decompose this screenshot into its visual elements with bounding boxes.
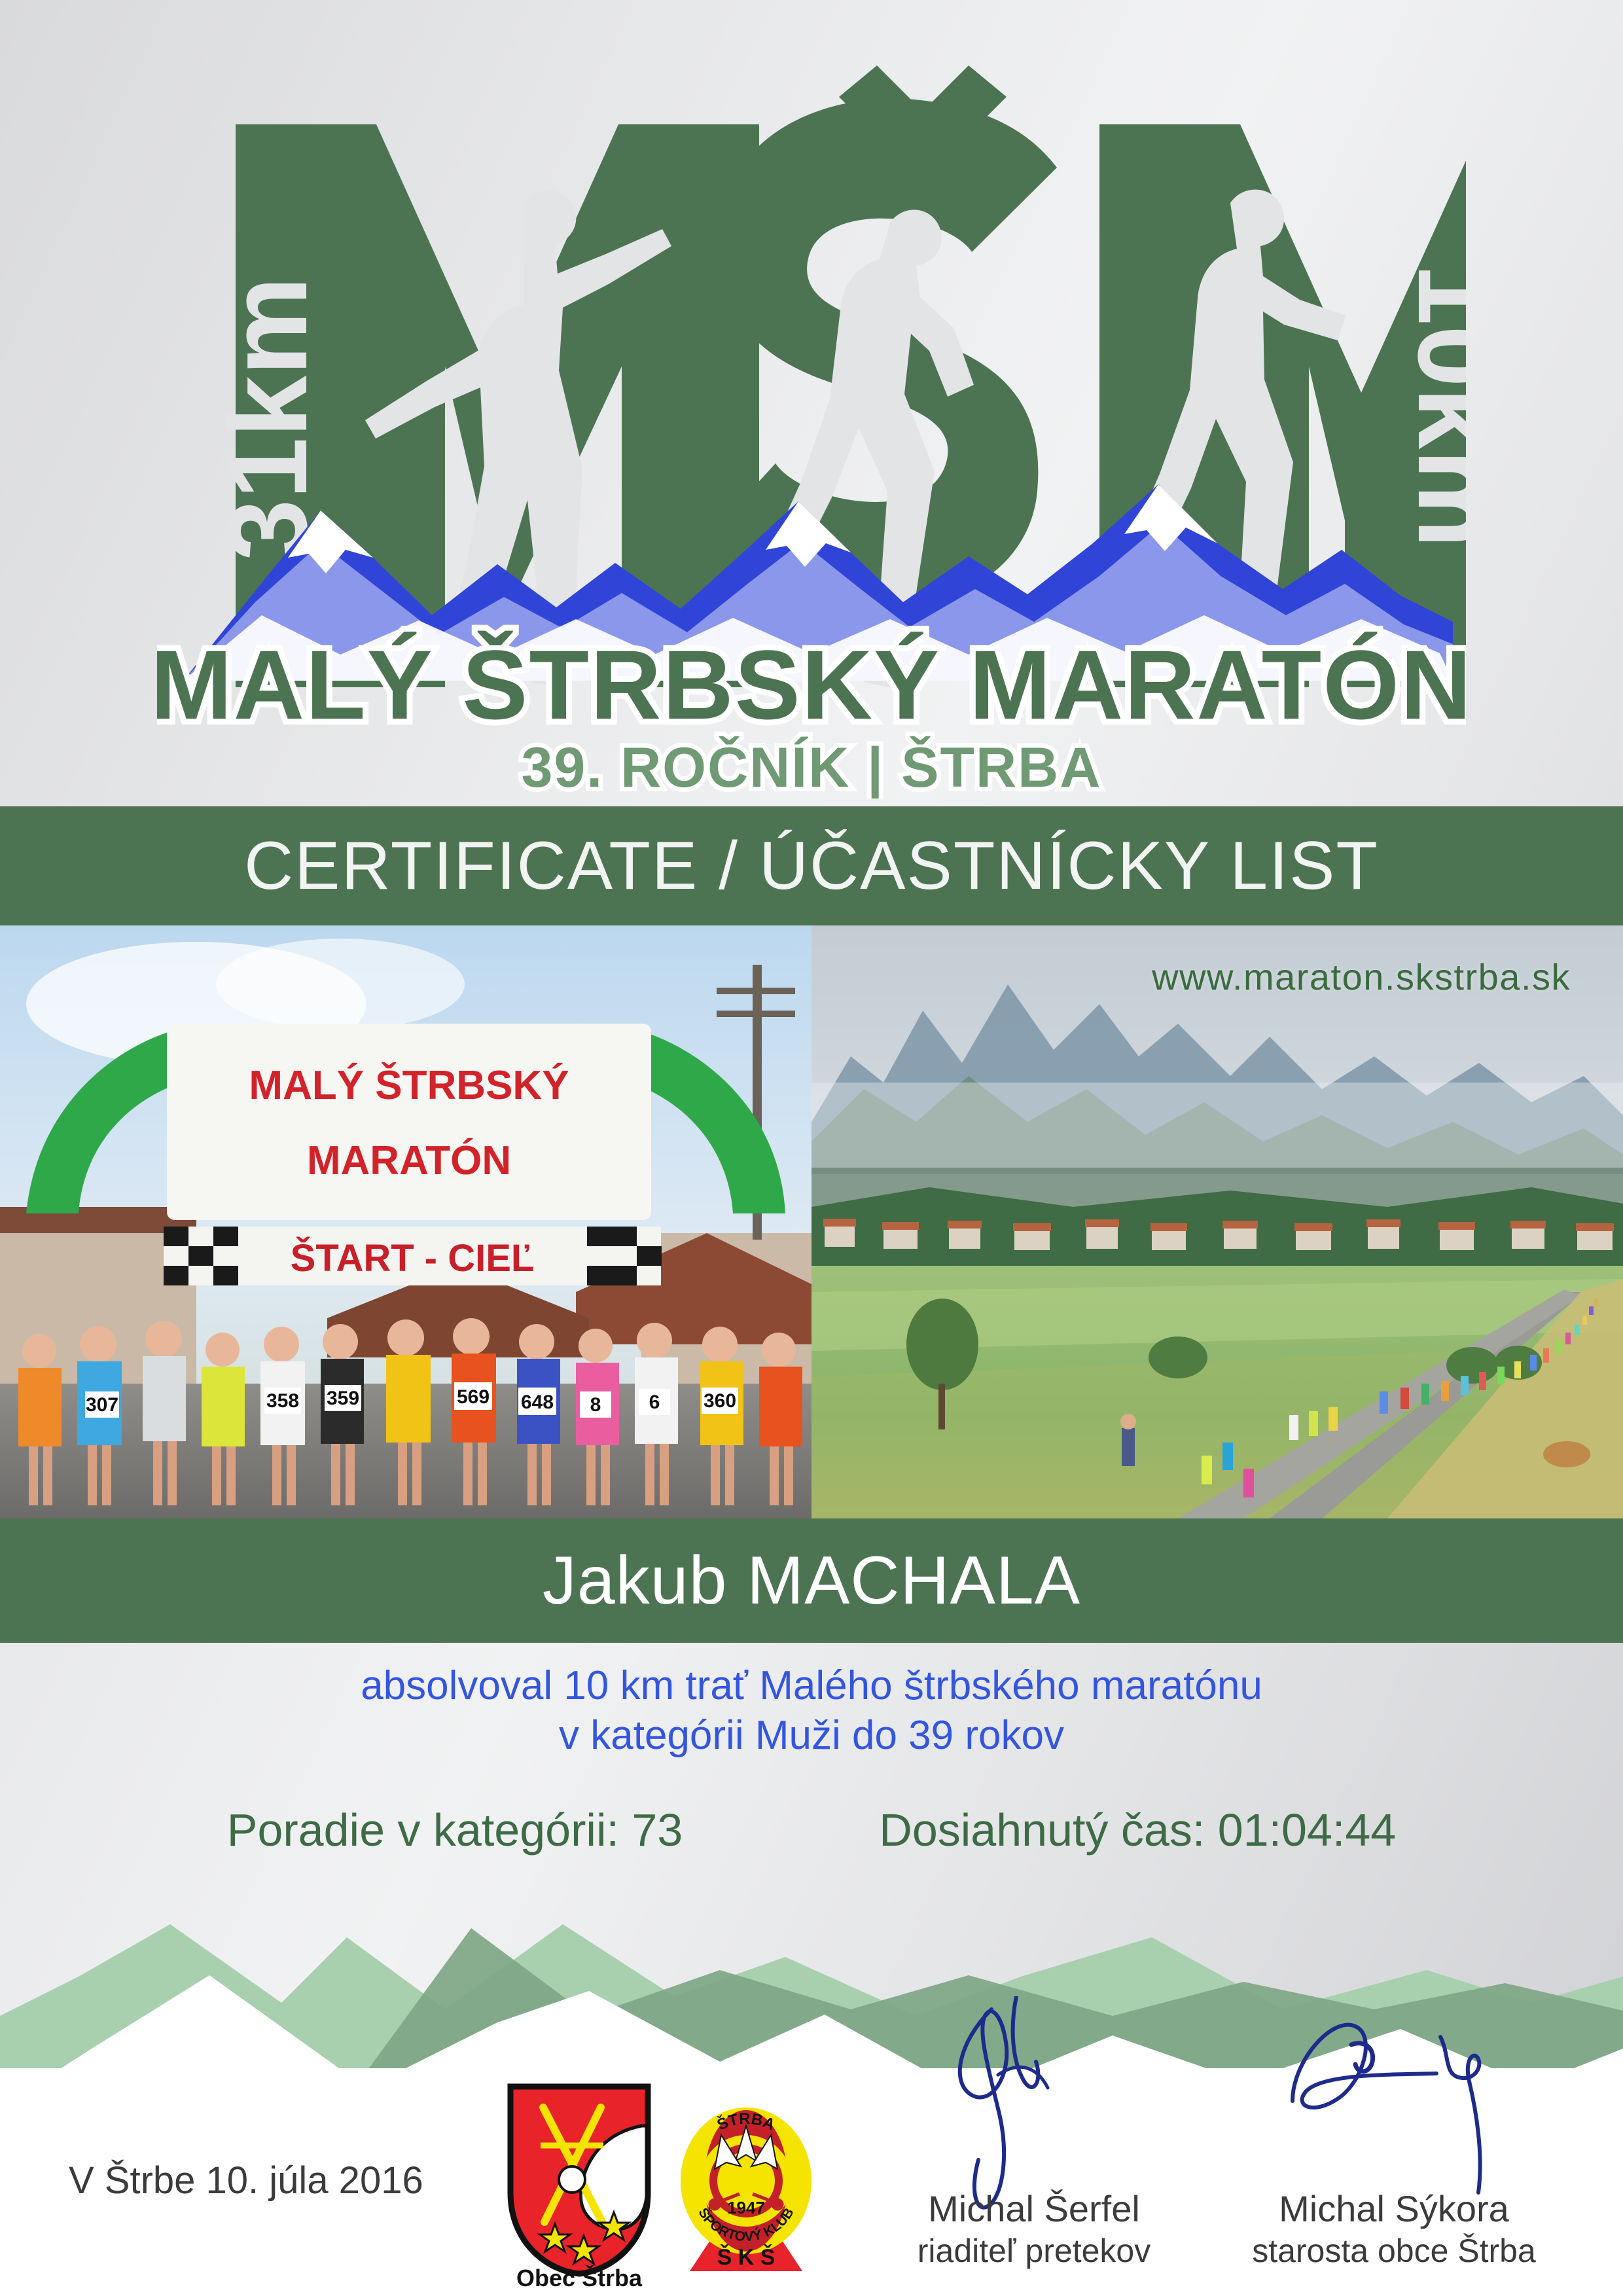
svg-text:648: 648 <box>521 1391 554 1413</box>
club-bottom-text: Š K Š <box>717 2244 776 2270</box>
participant-name: Jakub MACHALA <box>543 1542 1080 1620</box>
place-and-date: V Štrbe 10. júla 2016 <box>69 2159 423 2202</box>
certificate-title-banner: CERTIFICATE / ÚČASTNÍCKY LIST <box>0 806 1623 925</box>
signature-icon-sykora <box>1253 1996 1535 2212</box>
arch-text-line1: MALÝ ŠTRBSKÝ <box>249 1063 569 1108</box>
website-url: www.maraton.skstrba.sk <box>1152 956 1571 998</box>
crest-label: Obec Štrba <box>484 2265 674 2292</box>
logo-distance-right: 10km <box>1395 264 1466 548</box>
description-line-1: absolvoval 10 km trať Malého štrbského m… <box>361 1663 1262 1708</box>
msm-logo-svg: 31km 10km MALÝ ŠTRBSKÝ MARATÓN 39. ROČNÍ… <box>157 26 1466 798</box>
svg-text:307: 307 <box>86 1394 118 1416</box>
svg-text:10km: 10km <box>1395 264 1466 548</box>
results-row: Poradie v kategórii: 73 Dosiahnutý čas: … <box>0 1804 1623 1856</box>
category-rank: Poradie v kategórii: 73 <box>227 1804 683 1856</box>
signature-name: Michal Šerfel <box>864 2187 1204 2230</box>
logo-event-subtitle: 39. ROČNÍK | ŠTRBA <box>522 736 1102 798</box>
signature-name: Michal Sýkora <box>1224 2187 1564 2230</box>
arch-start-finish-banner: ŠTART - CIEĽ <box>291 1237 535 1280</box>
signature-role: riaditeľ pretekov <box>864 2232 1204 2270</box>
certificate-body: absolvoval 10 km trať Malého štrbského m… <box>0 1643 1623 1918</box>
svg-text:358: 358 <box>266 1390 299 1412</box>
arch-text-line2: MARATÓN <box>307 1138 511 1183</box>
svg-text:6: 6 <box>649 1391 660 1413</box>
achievement-description: absolvoval 10 km trať Malého štrbského m… <box>0 1661 1623 1760</box>
event-logo-block: 31km 10km MALÝ ŠTRBSKÝ MARATÓN 39. ROČNÍ… <box>0 0 1623 802</box>
certificate-page: 31km 10km MALÝ ŠTRBSKÝ MARATÓN 39. ROČNÍ… <box>0 0 1623 2296</box>
participant-name-banner: Jakub MACHALA <box>0 1518 1623 1643</box>
club-year: 1947 <box>727 2198 765 2217</box>
signature-icon-serfel <box>893 1996 1175 2212</box>
start-arch-photo: MALÝ ŠTRBSKÝ MARATÓN ŠTART - CIEĽ <box>0 925 811 1518</box>
svg-text:31km: 31km <box>206 277 330 562</box>
signature-block-director: Michal Šerfel riaditeľ pretekov <box>864 2068 1204 2296</box>
logo-distance-left: 31km <box>206 277 330 562</box>
finish-time: Dosiahnutý čas: 01:04:44 <box>879 1804 1396 1856</box>
svg-text:360: 360 <box>704 1390 736 1412</box>
photo-collage: MALÝ ŠTRBSKÝ MARATÓN ŠTART - CIEĽ <box>0 925 1623 1518</box>
svg-text:8: 8 <box>590 1394 601 1416</box>
certificate-title: CERTIFICATE / ÚČASTNÍCKY LIST <box>244 827 1379 905</box>
description-line-2: v kategórii Muži do 39 rokov <box>0 1711 1623 1761</box>
svg-text:359: 359 <box>327 1388 359 1409</box>
landscape-photo: www.maraton.skstrba.sk <box>811 925 1623 1518</box>
sks-club-logo-icon: 1947 ŠTRBA ŠPORTOVÝ KLUB Š K Š <box>674 2075 818 2284</box>
signature-role: starosta obce Štrba <box>1224 2232 1564 2270</box>
obec-strba-crest-icon <box>504 2081 654 2278</box>
certificate-footer: V Štrbe 10. júla 2016 <box>0 2068 1623 2296</box>
svg-text:569: 569 <box>457 1386 490 1408</box>
logo-event-title: MALÝ ŠTRBSKÝ MARATÓN <box>157 630 1466 740</box>
signature-block-mayor: Michal Sýkora starosta obce Štrba <box>1224 2068 1564 2296</box>
